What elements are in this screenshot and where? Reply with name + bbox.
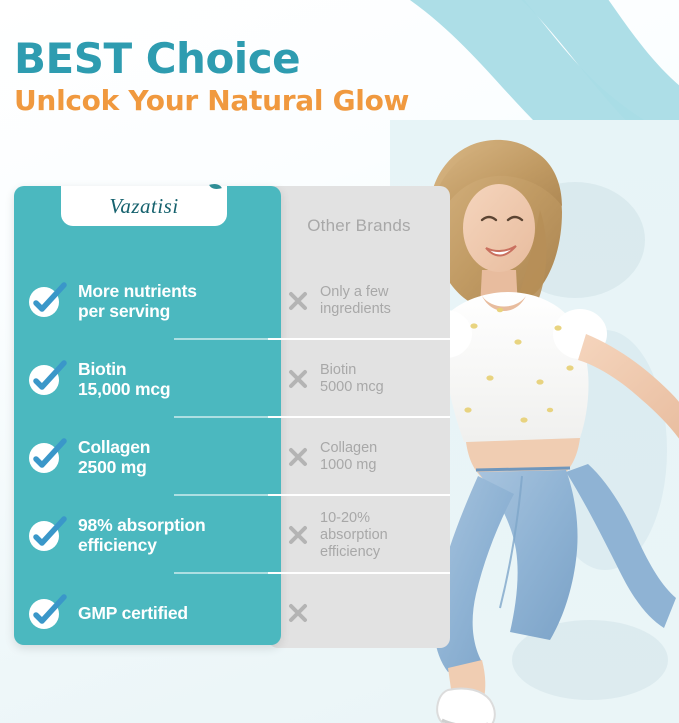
cross-icon (284, 287, 312, 315)
list-item: 98% absorptionefficiency (14, 496, 281, 574)
check-circle-icon (26, 280, 68, 322)
list-item: Collagen2500 mg (14, 418, 281, 496)
check-circle-icon (26, 436, 68, 478)
brand-feature-list: More nutrientsper serving Biotin15,000 m… (14, 262, 281, 652)
comparison-card: Other Brands Vazatisi More nutrientsper … (14, 186, 450, 648)
list-item-label: More nutrientsper serving (68, 281, 197, 321)
cross-icon (284, 599, 312, 627)
list-item-label: Collagen1000 mg (312, 440, 377, 474)
other-brands-feature-list: Only a fewingredients Biotin5000 mcg (268, 262, 450, 652)
list-item (268, 574, 450, 652)
list-item: Biotin15,000 mcg (14, 340, 281, 418)
list-item: Only a fewingredients (268, 262, 450, 340)
check-circle-icon (26, 358, 68, 400)
list-item-label: 98% absorptionefficiency (68, 515, 206, 555)
list-item-label: Collagen2500 mg (68, 437, 150, 477)
brand-logo: Vazatisi (61, 186, 227, 226)
headline-block: BEST Choice Unlcok Your Natural Glow (14, 36, 409, 118)
cross-icon (284, 521, 312, 549)
list-item-label: Biotin15,000 mcg (68, 359, 170, 399)
brand-name: Vazatisi (109, 194, 178, 219)
list-item-label: Only a fewingredients (312, 284, 391, 318)
list-item: More nutrientsper serving (14, 262, 281, 340)
list-item: Biotin5000 mcg (268, 340, 450, 418)
cross-icon (284, 443, 312, 471)
list-item: GMP certified (14, 574, 281, 652)
headline-primary: BEST Choice (14, 36, 409, 82)
other-brands-heading: Other Brands (268, 216, 450, 236)
leaf-icon (209, 181, 222, 191)
list-item-label: Biotin5000 mcg (312, 362, 384, 396)
list-item: 10-20%absorptionefficiency (268, 496, 450, 574)
check-circle-icon (26, 592, 68, 634)
list-item: Collagen1000 mg (268, 418, 450, 496)
infographic-canvas: BEST Choice Unlcok Your Natural Glow Oth… (0, 0, 679, 723)
list-item-label: 10-20%absorptionefficiency (312, 510, 388, 561)
headline-secondary: Unlcok Your Natural Glow (14, 84, 409, 118)
check-circle-icon (26, 514, 68, 556)
list-item-label: GMP certified (68, 603, 188, 623)
cross-icon (284, 365, 312, 393)
